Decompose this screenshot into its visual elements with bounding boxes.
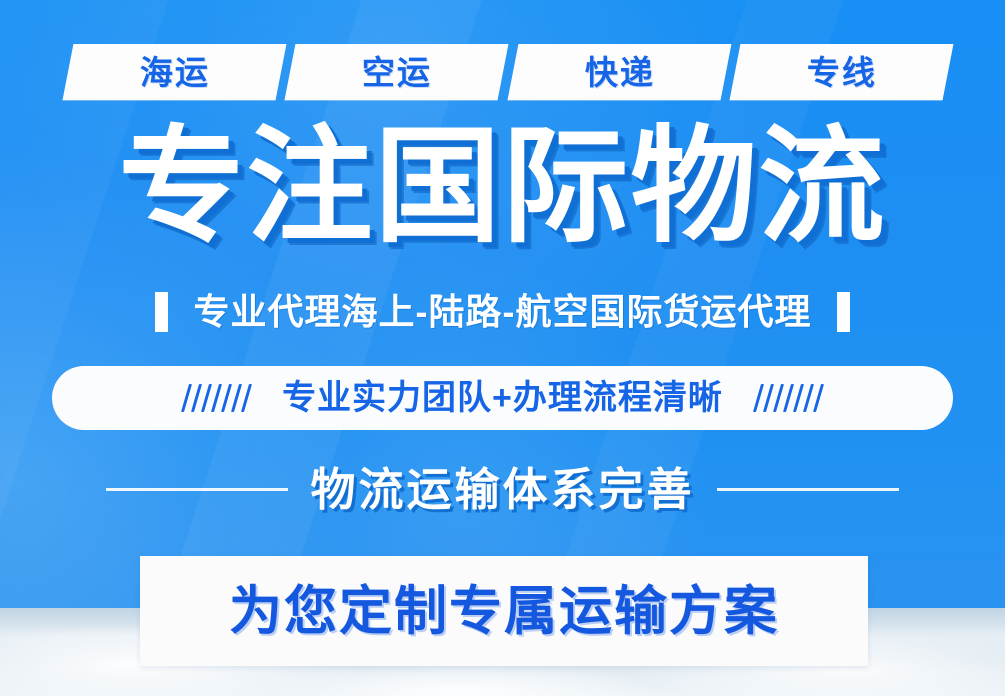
hatch-marks-icon-right <box>757 384 820 412</box>
rule-heading-text: 物流运输体系完善 <box>310 467 694 512</box>
subtitle-text: 专业代理海上-陆路-航空国际货运代理 <box>194 294 812 330</box>
feature-pill-text: 专业实力团队+办理流程清晰 <box>282 381 723 415</box>
cta-text: 为您定制专属运输方案 <box>229 585 779 638</box>
headline: 专注国际物流 <box>0 116 1005 257</box>
service-tag-sea-freight[interactable]: 海运 <box>63 44 287 100</box>
service-tag-express[interactable]: 快递 <box>507 44 731 100</box>
feature-pill: 专业实力团队+办理流程清晰 <box>52 366 953 430</box>
logistics-promo-banner: 海运 空运 快递 专线 专注国际物流 专业代理海上-陆路-航空国际货运代理 专业… <box>0 0 1005 696</box>
service-tag-dedicated-line[interactable]: 专线 <box>729 44 953 100</box>
horizontal-rule-right <box>717 488 899 491</box>
service-tag-label: 快递 <box>584 56 654 89</box>
service-tag-label: 专线 <box>806 56 876 89</box>
service-tag-label: 海运 <box>140 56 210 89</box>
vertical-bar-icon-right <box>837 292 850 332</box>
service-tag-label: 空运 <box>362 56 432 89</box>
service-tag-air-freight[interactable]: 空运 <box>285 44 509 100</box>
subtitle-row: 专业代理海上-陆路-航空国际货运代理 <box>0 287 1005 337</box>
cta-card[interactable]: 为您定制专属运输方案 <box>140 556 868 666</box>
vertical-bar-icon-left <box>155 292 168 332</box>
horizontal-rule-left <box>106 488 288 491</box>
hatch-marks-icon-left <box>185 384 248 412</box>
rule-heading-row: 物流运输体系完善 <box>0 458 1005 520</box>
service-tag-row: 海运 空运 快递 专线 <box>68 44 948 100</box>
